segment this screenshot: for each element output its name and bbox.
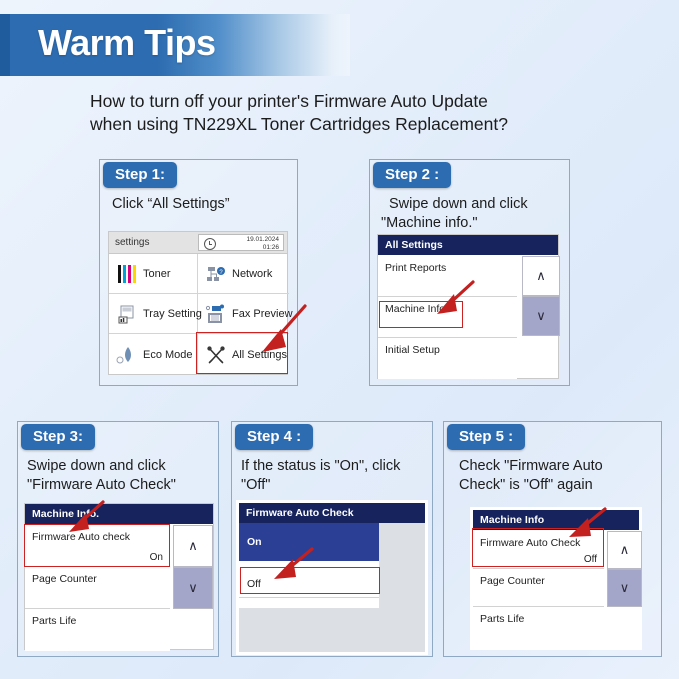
page-title: Warm Tips: [38, 22, 216, 64]
list-item[interactable]: Parts Life: [473, 607, 604, 646]
step-badge-2: Step 2 :: [373, 162, 451, 188]
home-cell-toner[interactable]: Toner: [109, 254, 198, 294]
home-status-bar: settings 19.01.2024 01:26: [109, 232, 287, 254]
list-item[interactable]: Machine Info.: [378, 297, 517, 338]
clock-icon: [204, 238, 216, 250]
network-icon: ?: [205, 263, 227, 285]
step-description-2: Swipe down and click "Machine info.": [381, 195, 528, 233]
list-item[interactable]: Print Reports: [378, 256, 517, 297]
machine-info-screen-title: Machine Info.: [25, 504, 213, 524]
row-label-initial-setup: Initial Setup: [385, 344, 440, 356]
page-subtitle: How to turn off your printer's Firmware …: [90, 90, 600, 136]
row-label-page-counter: Page Counter: [32, 573, 97, 585]
scroll-down-button[interactable]: ∨: [607, 569, 642, 607]
scroll-up-button[interactable]: ∧: [522, 256, 560, 296]
step-5-desc-line-2: Check" is "Off" again: [459, 476, 603, 495]
list-item[interactable]: Initial Setup: [378, 338, 517, 379]
step-5-desc-line-1: Check "Firmware Auto: [459, 457, 603, 476]
wrench-icon: [205, 344, 227, 366]
machine-info-screen-step5: Machine Info Firmware Auto Check Off Pag…: [470, 507, 642, 650]
step-description-4: If the status is "On", click "Off": [241, 457, 400, 495]
list-item[interactable]: Page Counter: [25, 567, 170, 609]
home-cell-network[interactable]: ? Network: [198, 254, 289, 294]
home-cell-eco-mode[interactable]: Eco Mode: [109, 334, 198, 375]
clock-datetime: 19.01.2024 01:26: [246, 236, 279, 251]
row-label-firmware-auto-check: Firmware Auto check: [32, 531, 130, 543]
step-2-desc-line-1: Swipe down and click: [381, 195, 528, 214]
all-settings-screen-title: All Settings: [378, 235, 558, 255]
subtitle-line-1: How to turn off your printer's Firmware …: [90, 90, 600, 113]
row-label-machine-info: Machine Info.: [385, 303, 448, 315]
step-badge-3: Step 3:: [21, 424, 95, 450]
firmware-auto-check-screen: Firmware Auto Check On Off: [236, 500, 428, 655]
toner-icon: [116, 263, 138, 285]
clock-date: 19.01.2024: [246, 236, 279, 243]
clock-widget[interactable]: 19.01.2024 01:26: [198, 234, 284, 251]
clock-time: 01:26: [263, 244, 279, 251]
step-description-3: Swipe down and click "Firmware Auto Chec…: [27, 457, 176, 495]
row-value-firmware-auto-check: On: [150, 552, 163, 563]
home-cell-toner-label: Toner: [143, 268, 171, 280]
step-3-desc-line-2: "Firmware Auto Check": [27, 476, 176, 495]
firmware-auto-check-screen-title: Firmware Auto Check: [239, 503, 425, 523]
list-item[interactable]: Firmware Auto check On: [25, 525, 170, 567]
row-label-parts-life: Parts Life: [32, 615, 76, 627]
option-off[interactable]: Off: [239, 571, 379, 598]
scroll-down-button[interactable]: ∨: [173, 567, 213, 609]
step-badge-4: Step 4 :: [235, 424, 313, 450]
fax-icon: [205, 303, 227, 325]
home-cell-all-settings-label: All Settings: [232, 349, 287, 361]
home-cell-eco-mode-label: Eco Mode: [143, 349, 193, 361]
row-label-firmware-auto-check: Firmware Auto Check: [480, 537, 580, 549]
step-4-desc-line-1: If the status is "On", click: [241, 457, 400, 476]
scroll-up-button[interactable]: ∧: [607, 531, 642, 569]
row-label-print-reports: Print Reports: [385, 262, 446, 274]
list-item[interactable]: Firmware Auto Check Off: [473, 531, 604, 569]
option-on-label: On: [247, 536, 262, 548]
home-screen-label: settings: [115, 237, 149, 248]
all-settings-screen: All Settings Print Reports Machine Info.…: [377, 234, 559, 379]
option-off-label: Off: [247, 578, 261, 590]
machine-info-screen-step3: Machine Info. Firmware Auto check On Pag…: [24, 503, 214, 650]
list-item[interactable]: Page Counter: [473, 569, 604, 607]
option-on[interactable]: On: [239, 523, 379, 561]
scroll-down-button[interactable]: ∨: [522, 296, 560, 336]
step-description-1: Click “All Settings”: [112, 195, 230, 214]
scrollbar-arrows[interactable]: ∧ ∨: [173, 525, 213, 609]
step-2-desc-line-2: "Machine info.": [381, 214, 528, 233]
row-label-page-counter: Page Counter: [480, 575, 545, 587]
machine-info-screen5-title: Machine Info: [473, 510, 639, 530]
row-label-parts-life: Parts Life: [480, 613, 524, 625]
home-cell-fax-preview-label: Fax Preview: [232, 308, 293, 320]
home-cell-fax-preview[interactable]: Fax Preview: [198, 294, 289, 334]
step-3-desc-line-1: Swipe down and click: [27, 457, 176, 476]
row-value-firmware-auto-check: Off: [584, 554, 597, 565]
scroll-up-button[interactable]: ∧: [173, 525, 213, 567]
eco-icon: [116, 344, 138, 366]
subtitle-line-2: when using TN229XL Toner Cartridges Repl…: [90, 113, 600, 136]
home-cell-network-label: Network: [232, 268, 272, 280]
home-cell-tray-setting[interactable]: Tray Setting: [109, 294, 198, 334]
scrollbar-arrows[interactable]: ∧ ∨: [522, 256, 560, 336]
step-badge-5: Step 5 :: [447, 424, 525, 450]
tray-icon: [116, 303, 138, 325]
list-item[interactable]: Parts Life: [25, 609, 170, 651]
scrollbar-arrows[interactable]: ∧ ∨: [607, 531, 642, 607]
printer-home-screen: settings 19.01.2024 01:26 Toner ?: [108, 231, 288, 375]
home-cell-tray-setting-label: Tray Setting: [143, 308, 202, 320]
step-1-desc-line-1: Click “All Settings”: [112, 195, 230, 214]
step-description-5: Check "Firmware Auto Check" is "Off" aga…: [459, 457, 603, 495]
step-badge-1: Step 1:: [103, 162, 177, 188]
header-banner-accent: [0, 14, 10, 76]
step-4-desc-line-2: "Off": [241, 476, 400, 495]
home-cell-all-settings[interactable]: All Settings: [198, 334, 289, 375]
